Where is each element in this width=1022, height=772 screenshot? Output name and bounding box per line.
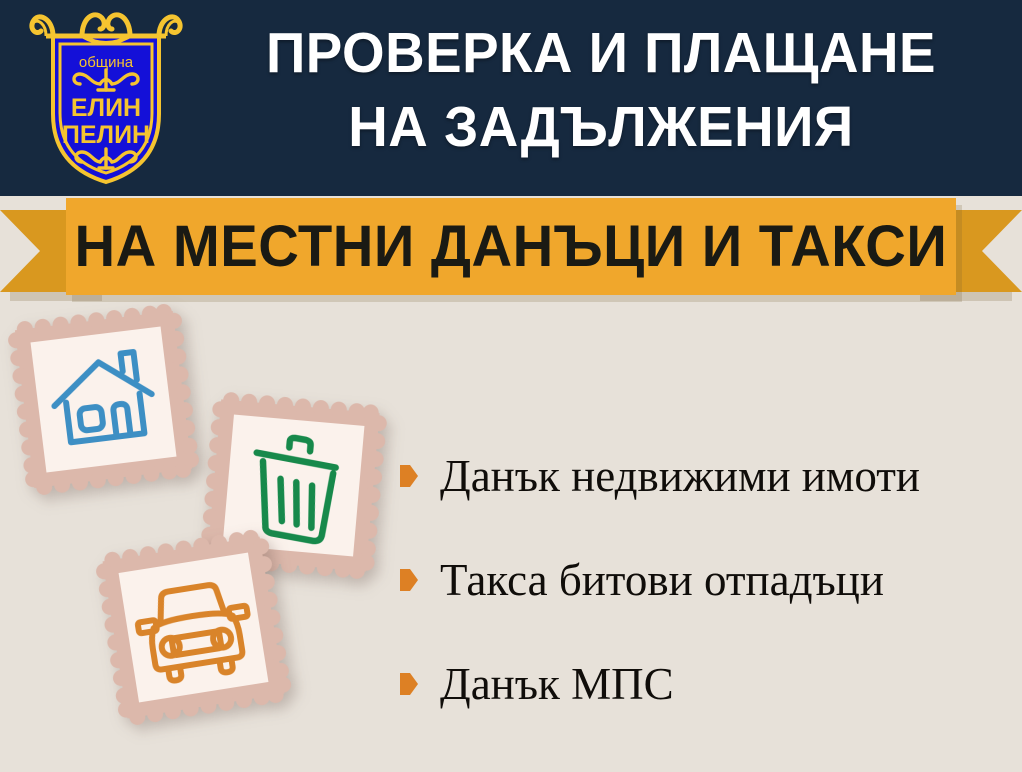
stamp-card-vehicle — [93, 527, 293, 727]
crest-name-line-2: ПЕЛИН — [62, 121, 150, 149]
list-item: Такса битови отпадъци — [400, 528, 1010, 632]
poster-canvas: община ЕЛИН ПЕЛИН — [0, 0, 1022, 772]
title-line-2: НА ЗАДЪЛЖЕНИЯ — [212, 90, 990, 164]
list-item: Данък МПС — [400, 632, 1010, 736]
ribbon-banner: НА МЕСТНИ ДАНЪЦИ И ТАКСИ — [0, 196, 1022, 306]
tax-types-list: Данък недвижими имоти Такса битови отпад… — [400, 424, 1010, 736]
title-line-1: ПРОВЕРКА И ПЛАЩАНЕ — [212, 16, 990, 90]
ribbon-main-panel: НА МЕСТНИ ДАНЪЦИ И ТАКСИ — [66, 198, 956, 295]
arrow-bullet-icon — [400, 673, 418, 695]
list-item-label: Данък МПС — [440, 659, 674, 709]
ribbon-text: НА МЕСТНИ ДАНЪЦИ И ТАКСИ — [75, 218, 948, 276]
crest-name-line-1: ЕЛИН — [71, 94, 141, 122]
poster-title: ПРОВЕРКА И ПЛАЩАНЕ НА ЗАДЪЛЖЕНИЯ — [196, 16, 1006, 164]
arrow-bullet-icon — [400, 569, 418, 591]
list-item-label: Такса битови отпадъци — [440, 555, 884, 605]
list-item: Данък недвижими имоти — [400, 424, 1010, 528]
stamp-card-property — [6, 302, 201, 497]
arrow-bullet-icon — [400, 465, 418, 487]
coat-of-arms-icon: община ЕЛИН ПЕЛИН — [20, 6, 192, 188]
header-bar: община ЕЛИН ПЕЛИН — [0, 0, 1022, 196]
list-item-label: Данък недвижими имоти — [440, 451, 920, 501]
